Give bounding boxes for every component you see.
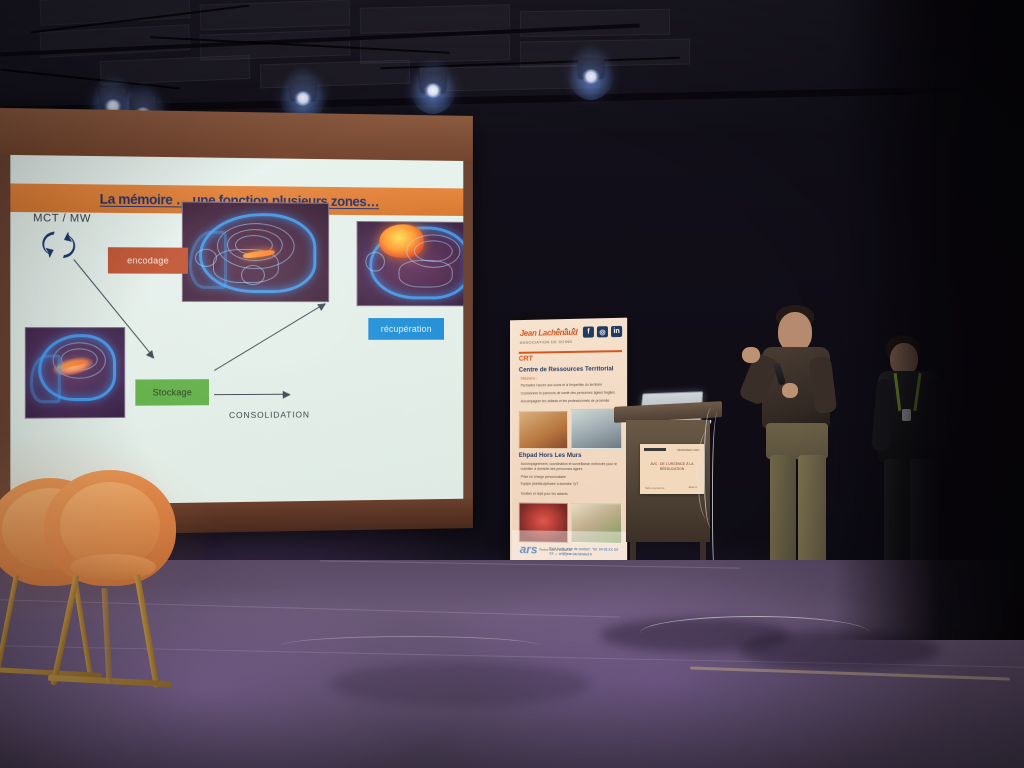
banner-bullet: Soutien et répit pour les aidants	[521, 492, 620, 498]
power-cable	[698, 430, 724, 520]
brain-image-storage	[25, 327, 125, 419]
recycle-arrows-icon	[37, 228, 80, 261]
birds-icon: ⌃⌃⌃	[555, 327, 578, 336]
stage-spotlight	[420, 72, 446, 94]
microphone-cable	[280, 636, 540, 656]
slide-box-encodage: encodage	[108, 247, 188, 274]
banner-subheading-crt: Centre de Ressources Territorial	[519, 365, 614, 373]
slide-box-stockage: Stockage	[135, 379, 209, 406]
banner-bullet: Accompagner les aidants et les professio…	[521, 399, 620, 405]
conference-stage-photo: La mémoire … une fonction plusieurs zone…	[0, 0, 1024, 768]
banner-section2-text: Accompagnement, coordination et surveill…	[521, 462, 620, 473]
banner-contact-text: Pour toute prise de contact : Tél. 04 93…	[549, 546, 619, 558]
banner-bullet: Permettre l'accès aux soins et à l'exper…	[521, 382, 620, 388]
speaker-hand	[782, 383, 798, 398]
speaker-head	[778, 312, 812, 352]
facebook-icon: f	[583, 326, 594, 337]
slide-cycle-label: MCT / MW	[33, 212, 91, 225]
banner-mission-label: Missions :	[521, 375, 620, 382]
banner-bullet: Coordonner le parcours de santé des pers…	[521, 390, 620, 396]
sign-title: AVC : DE L'URGENCE À LA RÉÉDUCATION	[646, 462, 698, 472]
sign-date: VENDREDI 2024	[677, 448, 700, 452]
linkedin-icon: in	[611, 326, 622, 337]
instagram-icon: ◎	[597, 326, 608, 337]
stage-spotlight	[578, 58, 604, 80]
lectern-sign: VENDREDI 2024 AVC : DE L'URGENCE À LA RÉ…	[640, 444, 704, 494]
warm-light-wash	[0, 430, 220, 630]
slide-arrow-label-consolidation: CONSOLIDATION	[229, 410, 310, 421]
stage-spotlight	[290, 80, 316, 102]
sign-footer: Salle polyvalente	[645, 487, 665, 490]
banner-bullet: Prise en charge personnalisée	[521, 475, 620, 481]
screen-top-border	[0, 108, 473, 161]
brain-image-encoding	[182, 201, 329, 302]
rollup-banner: Jean Lachenaud ASSOCIATION DE SOINS ⌃⌃⌃ …	[510, 318, 627, 579]
speaker-trousers	[766, 423, 828, 459]
brain-image-retrieval	[357, 221, 464, 306]
sign-signature: Jean L.	[688, 485, 698, 489]
sign-header-bar	[644, 448, 666, 451]
banner-social-icons: f ◎ in	[583, 326, 622, 338]
banner-heading-crt: CRT	[519, 356, 533, 363]
arrow-storage-to-retrieval	[214, 303, 325, 371]
dark-backdrop	[834, 0, 1024, 640]
banner-heading-ehpad: Ehpad Hors Les Murs	[519, 452, 582, 459]
banner-bullet: Equipe pluridisciplinaire à domicile 7j/…	[521, 482, 620, 488]
speaker-hand	[742, 347, 760, 363]
ars-logo: ars	[520, 542, 538, 556]
banner-logo-subtitle: ASSOCIATION DE SOINS	[520, 339, 572, 345]
banner-photo-group-activity	[519, 411, 568, 449]
slide-box-recuperation: récupération	[368, 318, 444, 340]
arrow-consolidation	[214, 394, 290, 395]
